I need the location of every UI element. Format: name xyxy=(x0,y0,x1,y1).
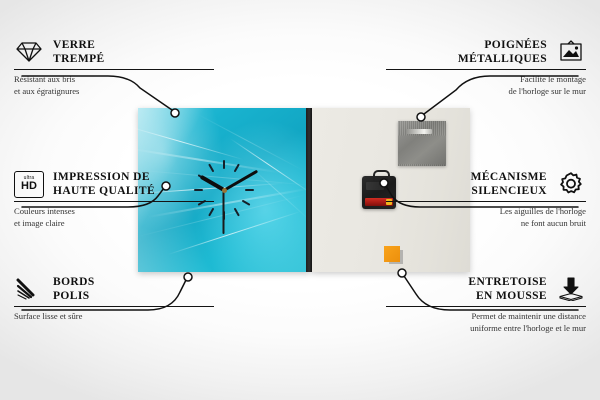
callout-divider xyxy=(14,201,214,202)
callout-title: VERRE TREMPÉ xyxy=(53,38,105,66)
callout-divider xyxy=(14,69,214,70)
diagonal-stripes-icon xyxy=(14,276,44,302)
callout-divider xyxy=(14,306,214,307)
callout-subtitle: Les aiguilles de l'horloge ne font aucun… xyxy=(386,206,586,229)
callout-subtitle: Résistant aux bris et aux égratignures xyxy=(14,74,214,97)
callout-title: IMPRESSION DE HAUTE QUALITÉ xyxy=(53,170,155,198)
callout-title: BORDS POLIS xyxy=(53,275,95,303)
infographic-stage: VERRE TREMPÉ Résistant aux bris et aux é… xyxy=(0,0,600,400)
callout-divider xyxy=(386,201,586,202)
callout-bords-polis: BORDS POLIS Surface lisse et sûre xyxy=(14,275,214,323)
callout-impression-haute-qualite: ultra HD IMPRESSION DE HAUTE QUALITÉ Cou… xyxy=(14,170,214,229)
gear-icon xyxy=(556,171,586,197)
callout-header: ultra HD IMPRESSION DE HAUTE QUALITÉ xyxy=(14,170,214,198)
callout-poignees-metalliques: POIGNÉES MÉTALLIQUES Facilite le montage… xyxy=(386,38,586,97)
ultra-hd-icon: ultra HD xyxy=(14,171,44,197)
callout-entretoise-en-mousse: ENTRETOISE EN MOUSSE Permet de maintenir… xyxy=(386,275,586,334)
metal-handle-slot xyxy=(406,129,432,134)
mechanism-housing-detail xyxy=(366,182,384,190)
picture-frame-icon xyxy=(556,39,586,65)
ultra-hd-large-text: HD xyxy=(21,181,37,192)
callout-subtitle: Couleurs intenses et image claire xyxy=(14,206,214,229)
arrow-down-pad-icon xyxy=(556,276,586,302)
callout-mecanisme-silencieux: MÉCANISME SILENCIEUX Les aiguilles de l'… xyxy=(386,170,586,229)
diamond-icon xyxy=(14,39,44,65)
callout-title: MÉCANISME SILENCIEUX xyxy=(471,170,547,198)
callout-header: POIGNÉES MÉTALLIQUES xyxy=(386,38,586,66)
callout-verre-trempe: VERRE TREMPÉ Résistant aux bris et aux é… xyxy=(14,38,214,97)
callout-header: ENTRETOISE EN MOUSSE xyxy=(386,275,586,303)
callout-title: ENTRETOISE EN MOUSSE xyxy=(468,275,547,303)
clock-center-hub xyxy=(222,188,227,193)
callout-header: MÉCANISME SILENCIEUX xyxy=(386,170,586,198)
callout-subtitle: Facilite le montage de l'horloge sur le … xyxy=(386,74,586,97)
callout-header: BORDS POLIS xyxy=(14,275,214,303)
callout-divider xyxy=(386,69,586,70)
callout-divider xyxy=(386,306,586,307)
callout-subtitle: Surface lisse et sûre xyxy=(14,311,214,322)
foam-spacer xyxy=(384,246,400,262)
callout-title: POIGNÉES MÉTALLIQUES xyxy=(458,38,547,66)
metal-handle-plate xyxy=(398,121,446,166)
callout-header: VERRE TREMPÉ xyxy=(14,38,214,66)
callout-subtitle: Permet de maintenir une distance uniform… xyxy=(386,311,586,334)
